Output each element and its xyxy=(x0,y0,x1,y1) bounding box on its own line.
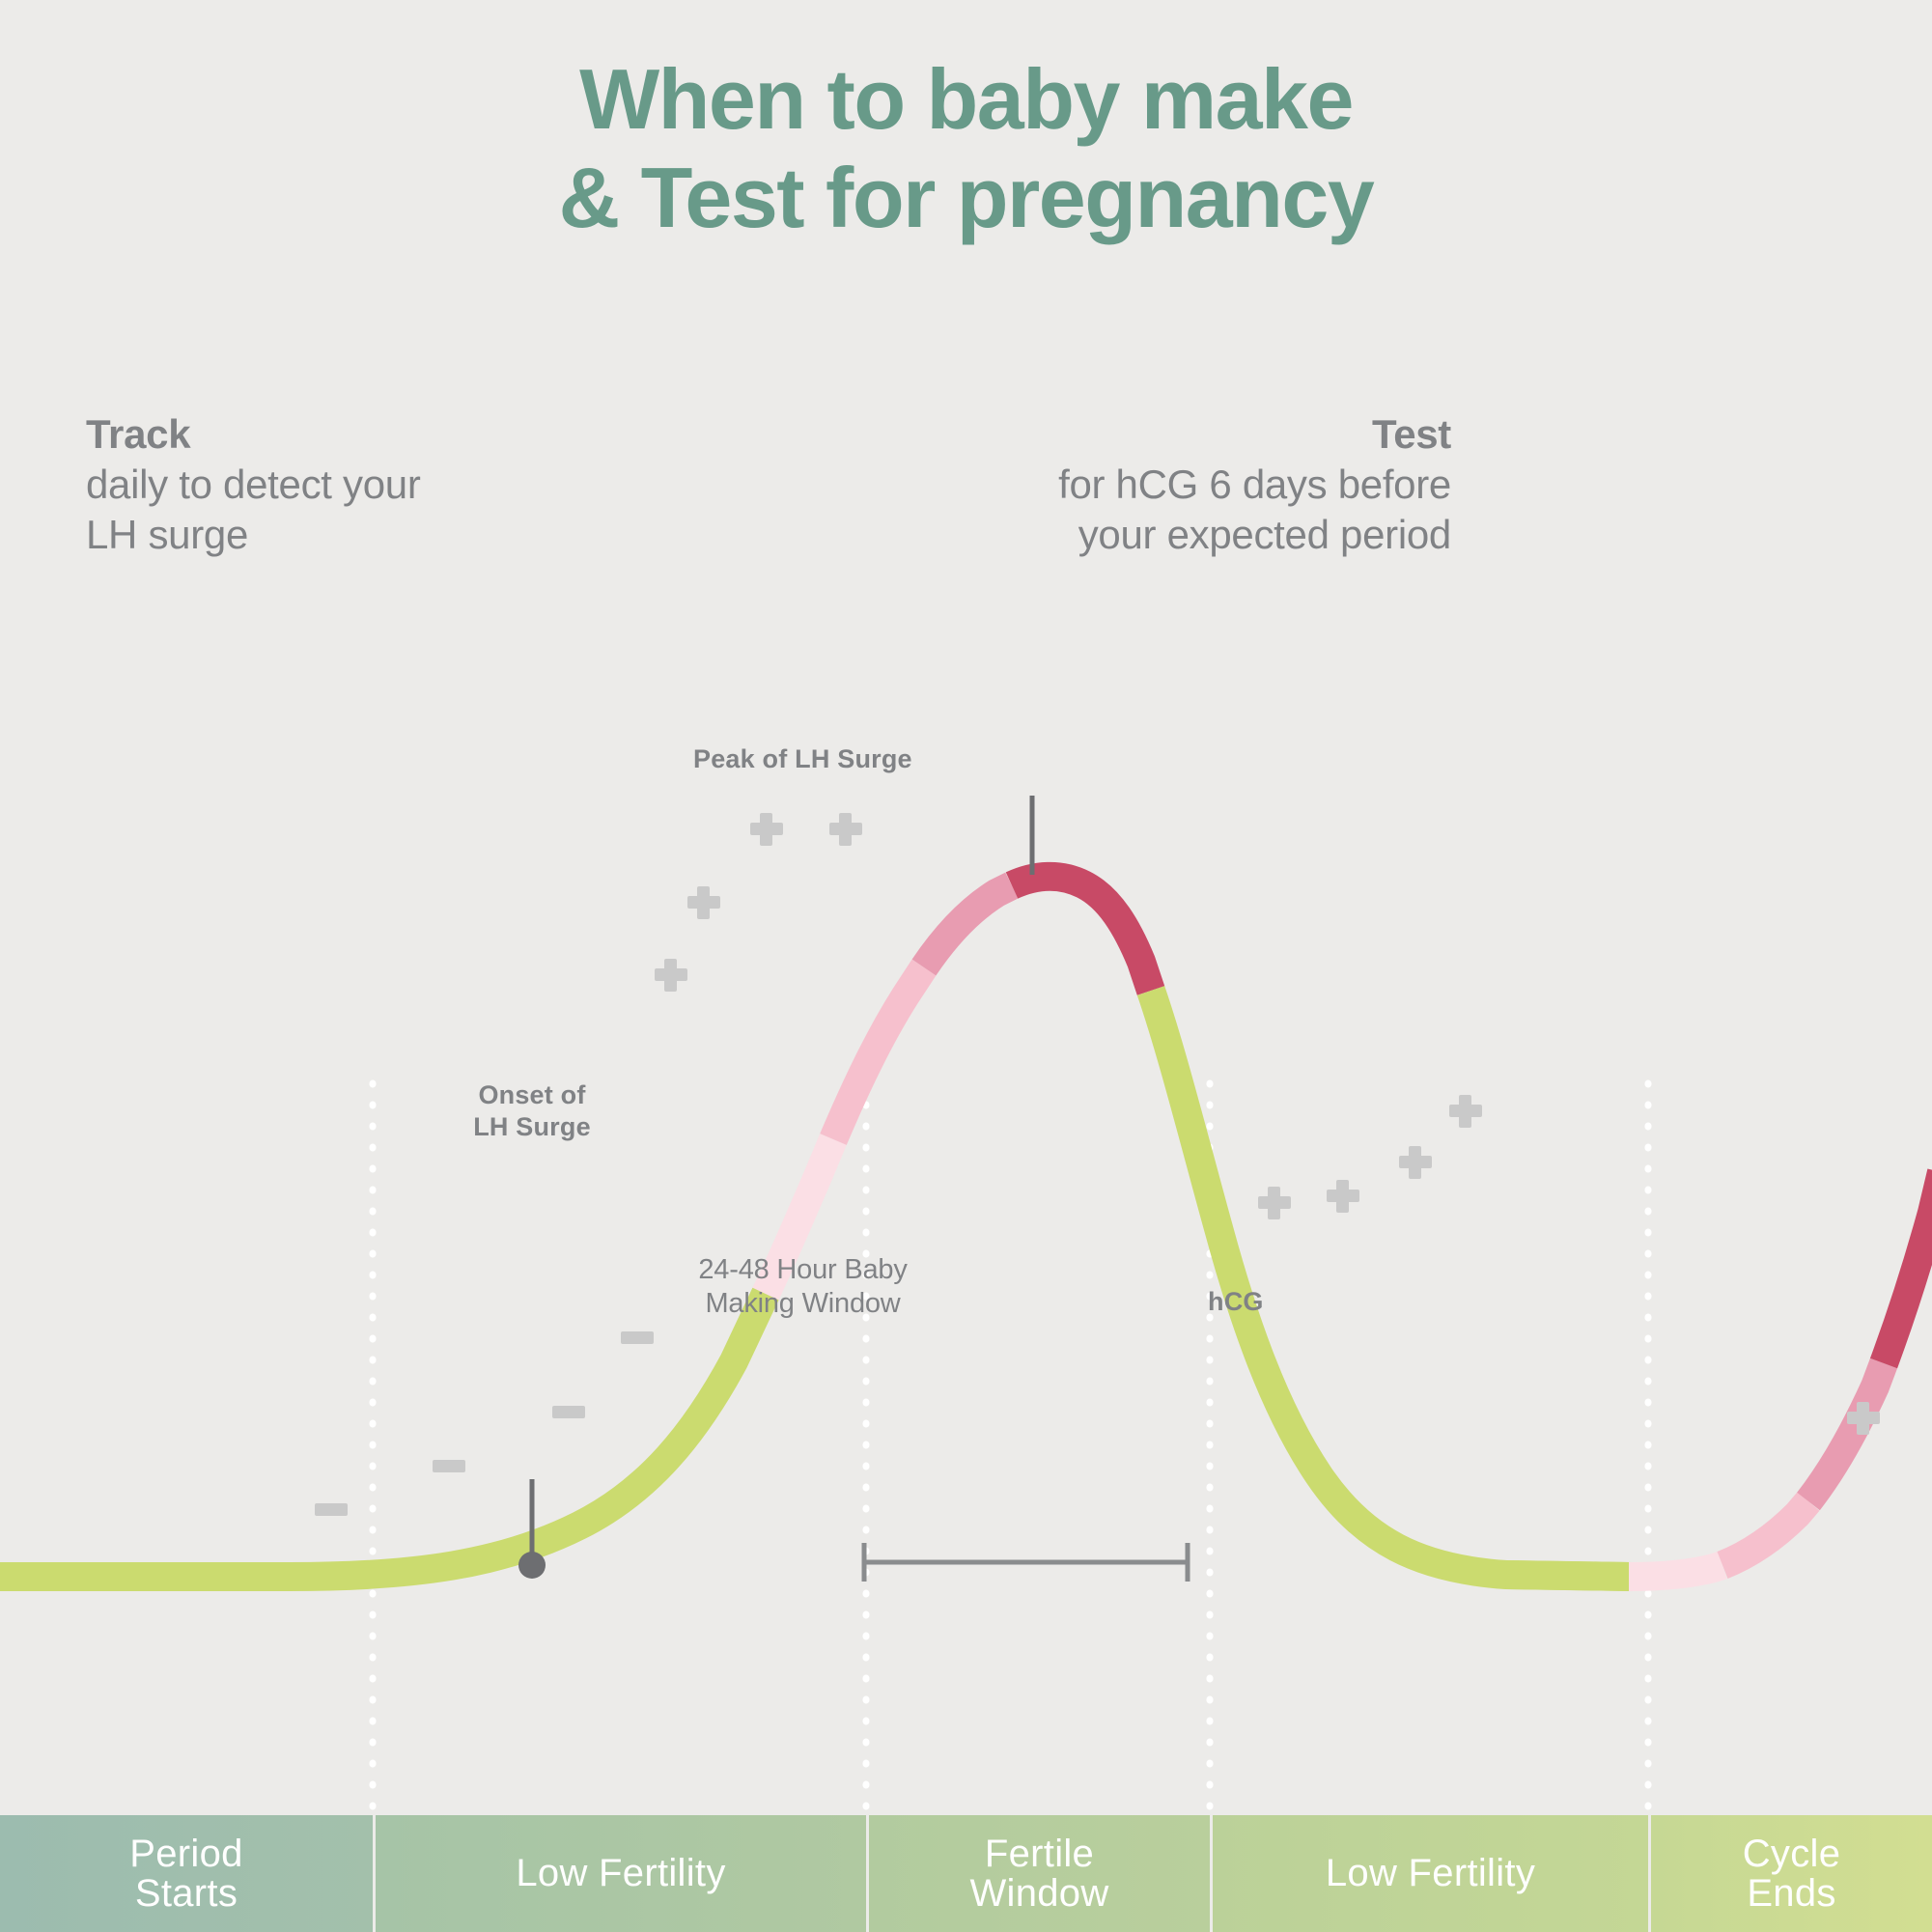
phase-label: Period Starts xyxy=(129,1834,242,1914)
plus-icon xyxy=(1327,1180,1359,1213)
minus-icon xyxy=(621,1331,654,1344)
phase-segment-fertile-window[interactable]: Fertile Window xyxy=(866,1815,1210,1932)
plus-icon xyxy=(655,959,687,992)
onset-of-lh-surge-label: Onset of LH Surge xyxy=(470,1079,594,1143)
hcg-curve xyxy=(1506,1172,1932,1577)
hcg-curve-segment-medium xyxy=(1808,1363,1884,1501)
phase-divider-lines xyxy=(373,1083,1648,1815)
phase-label: Cycle Ends xyxy=(1743,1834,1841,1914)
hormone-curve-chart xyxy=(0,0,1932,1815)
plus-icon xyxy=(1399,1146,1432,1179)
lh-curve-segment-descent xyxy=(1151,991,1632,1577)
phase-label: Fertile Window xyxy=(969,1834,1108,1914)
onset-marker-dot xyxy=(518,1552,546,1579)
hcg-curve-segment-faint xyxy=(1629,1565,1722,1577)
lh-curve-segment-medium xyxy=(924,885,1012,967)
plus-icon xyxy=(829,813,862,846)
lh-curve xyxy=(0,877,1632,1577)
peak-of-lh-surge-label: Peak of LH Surge xyxy=(693,743,912,775)
phase-segment-cycle-ends[interactable]: Cycle Ends xyxy=(1648,1815,1932,1932)
test-marker-negatives xyxy=(315,1331,654,1516)
baby-making-window-bracket xyxy=(862,1543,1190,1582)
cycle-phase-bar: Period Starts Low Fertility Fertile Wind… xyxy=(0,1815,1932,1932)
plus-icon xyxy=(750,813,783,846)
phase-segment-period-starts[interactable]: Period Starts xyxy=(0,1815,373,1932)
minus-icon xyxy=(315,1503,348,1516)
phase-label: Low Fertility xyxy=(516,1854,725,1893)
lh-curve-segment-light xyxy=(833,967,924,1139)
minus-icon xyxy=(433,1460,465,1472)
infographic-root: When to baby make & Test for pregnancy T… xyxy=(0,0,1932,1932)
plus-icon xyxy=(1258,1187,1291,1219)
lh-curve-segment-peak xyxy=(1012,877,1151,991)
phase-label: Low Fertility xyxy=(1326,1854,1535,1893)
hcg-label: hCG xyxy=(1208,1286,1264,1318)
plus-icon xyxy=(687,886,720,919)
phase-segment-low-fertility-1[interactable]: Low Fertility xyxy=(373,1815,866,1932)
hcg-curve-segment-low xyxy=(1506,1575,1629,1577)
phase-segment-low-fertility-2[interactable]: Low Fertility xyxy=(1210,1815,1648,1932)
baby-making-window-label: 24-48 Hour Baby Making Window xyxy=(676,1253,930,1322)
plus-icon xyxy=(1449,1095,1482,1128)
hcg-curve-segment-light xyxy=(1722,1501,1808,1565)
hcg-curve-segment-strong xyxy=(1884,1172,1932,1363)
minus-icon xyxy=(552,1406,585,1418)
